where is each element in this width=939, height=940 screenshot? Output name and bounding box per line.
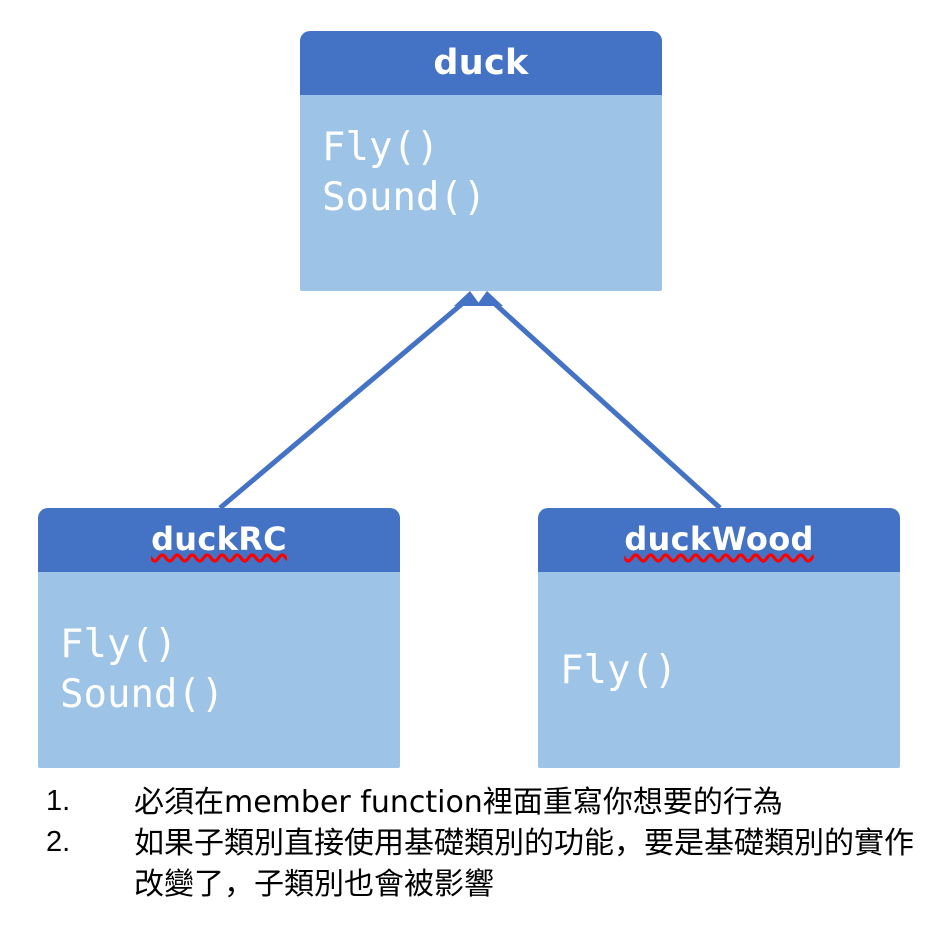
- class-header-duck: duck: [300, 31, 662, 95]
- class-body-duckwood: Fly(): [538, 572, 900, 768]
- class-header-duckwood: duckWood: [538, 508, 900, 572]
- note-item: 2. 如果子類別直接使用基礎類別的功能，要是基礎類別的實作改變了，子類別也會被影…: [46, 823, 926, 905]
- class-box-duckrc[interactable]: duckRC Fly() Sound(): [38, 508, 400, 768]
- method-duckrc-fly: Fly(): [60, 620, 400, 670]
- notes-list: 1. 必須在member function裡面重寫你想要的行為 2. 如果子類別…: [46, 782, 926, 905]
- note-text: 必須在member function裡面重寫你想要的行為: [134, 782, 926, 823]
- note-item: 1. 必須在member function裡面重寫你想要的行為: [46, 782, 926, 823]
- class-body-duckrc: Fly() Sound(): [38, 572, 400, 768]
- method-duckrc-sound: Sound(): [60, 670, 400, 720]
- class-title-duckrc: duckRC: [151, 523, 287, 557]
- method-duckwood-fly: Fly(): [560, 646, 900, 696]
- inheritance-arrow-duckrc-to-duck: [220, 291, 481, 508]
- class-title-duck: duck: [433, 45, 528, 82]
- note-marker: 2.: [46, 823, 134, 863]
- class-body-duck: Fly() Sound(): [300, 95, 662, 291]
- diagram-canvas: duck Fly() Sound() duckRC Fly() Sound() …: [0, 0, 939, 940]
- note-marker: 1.: [46, 782, 134, 822]
- class-box-duck[interactable]: duck Fly() Sound(): [300, 31, 662, 291]
- class-header-duckrc: duckRC: [38, 508, 400, 572]
- method-duck-fly: Fly(): [322, 123, 662, 173]
- inheritance-arrow-duckwood-to-duck: [476, 291, 720, 508]
- class-box-duckwood[interactable]: duckWood Fly(): [538, 508, 900, 768]
- method-duck-sound: Sound(): [322, 173, 662, 223]
- class-title-duckwood: duckWood: [624, 523, 813, 557]
- note-text: 如果子類別直接使用基礎類別的功能，要是基礎類別的實作改變了，子類別也會被影響: [134, 823, 926, 905]
